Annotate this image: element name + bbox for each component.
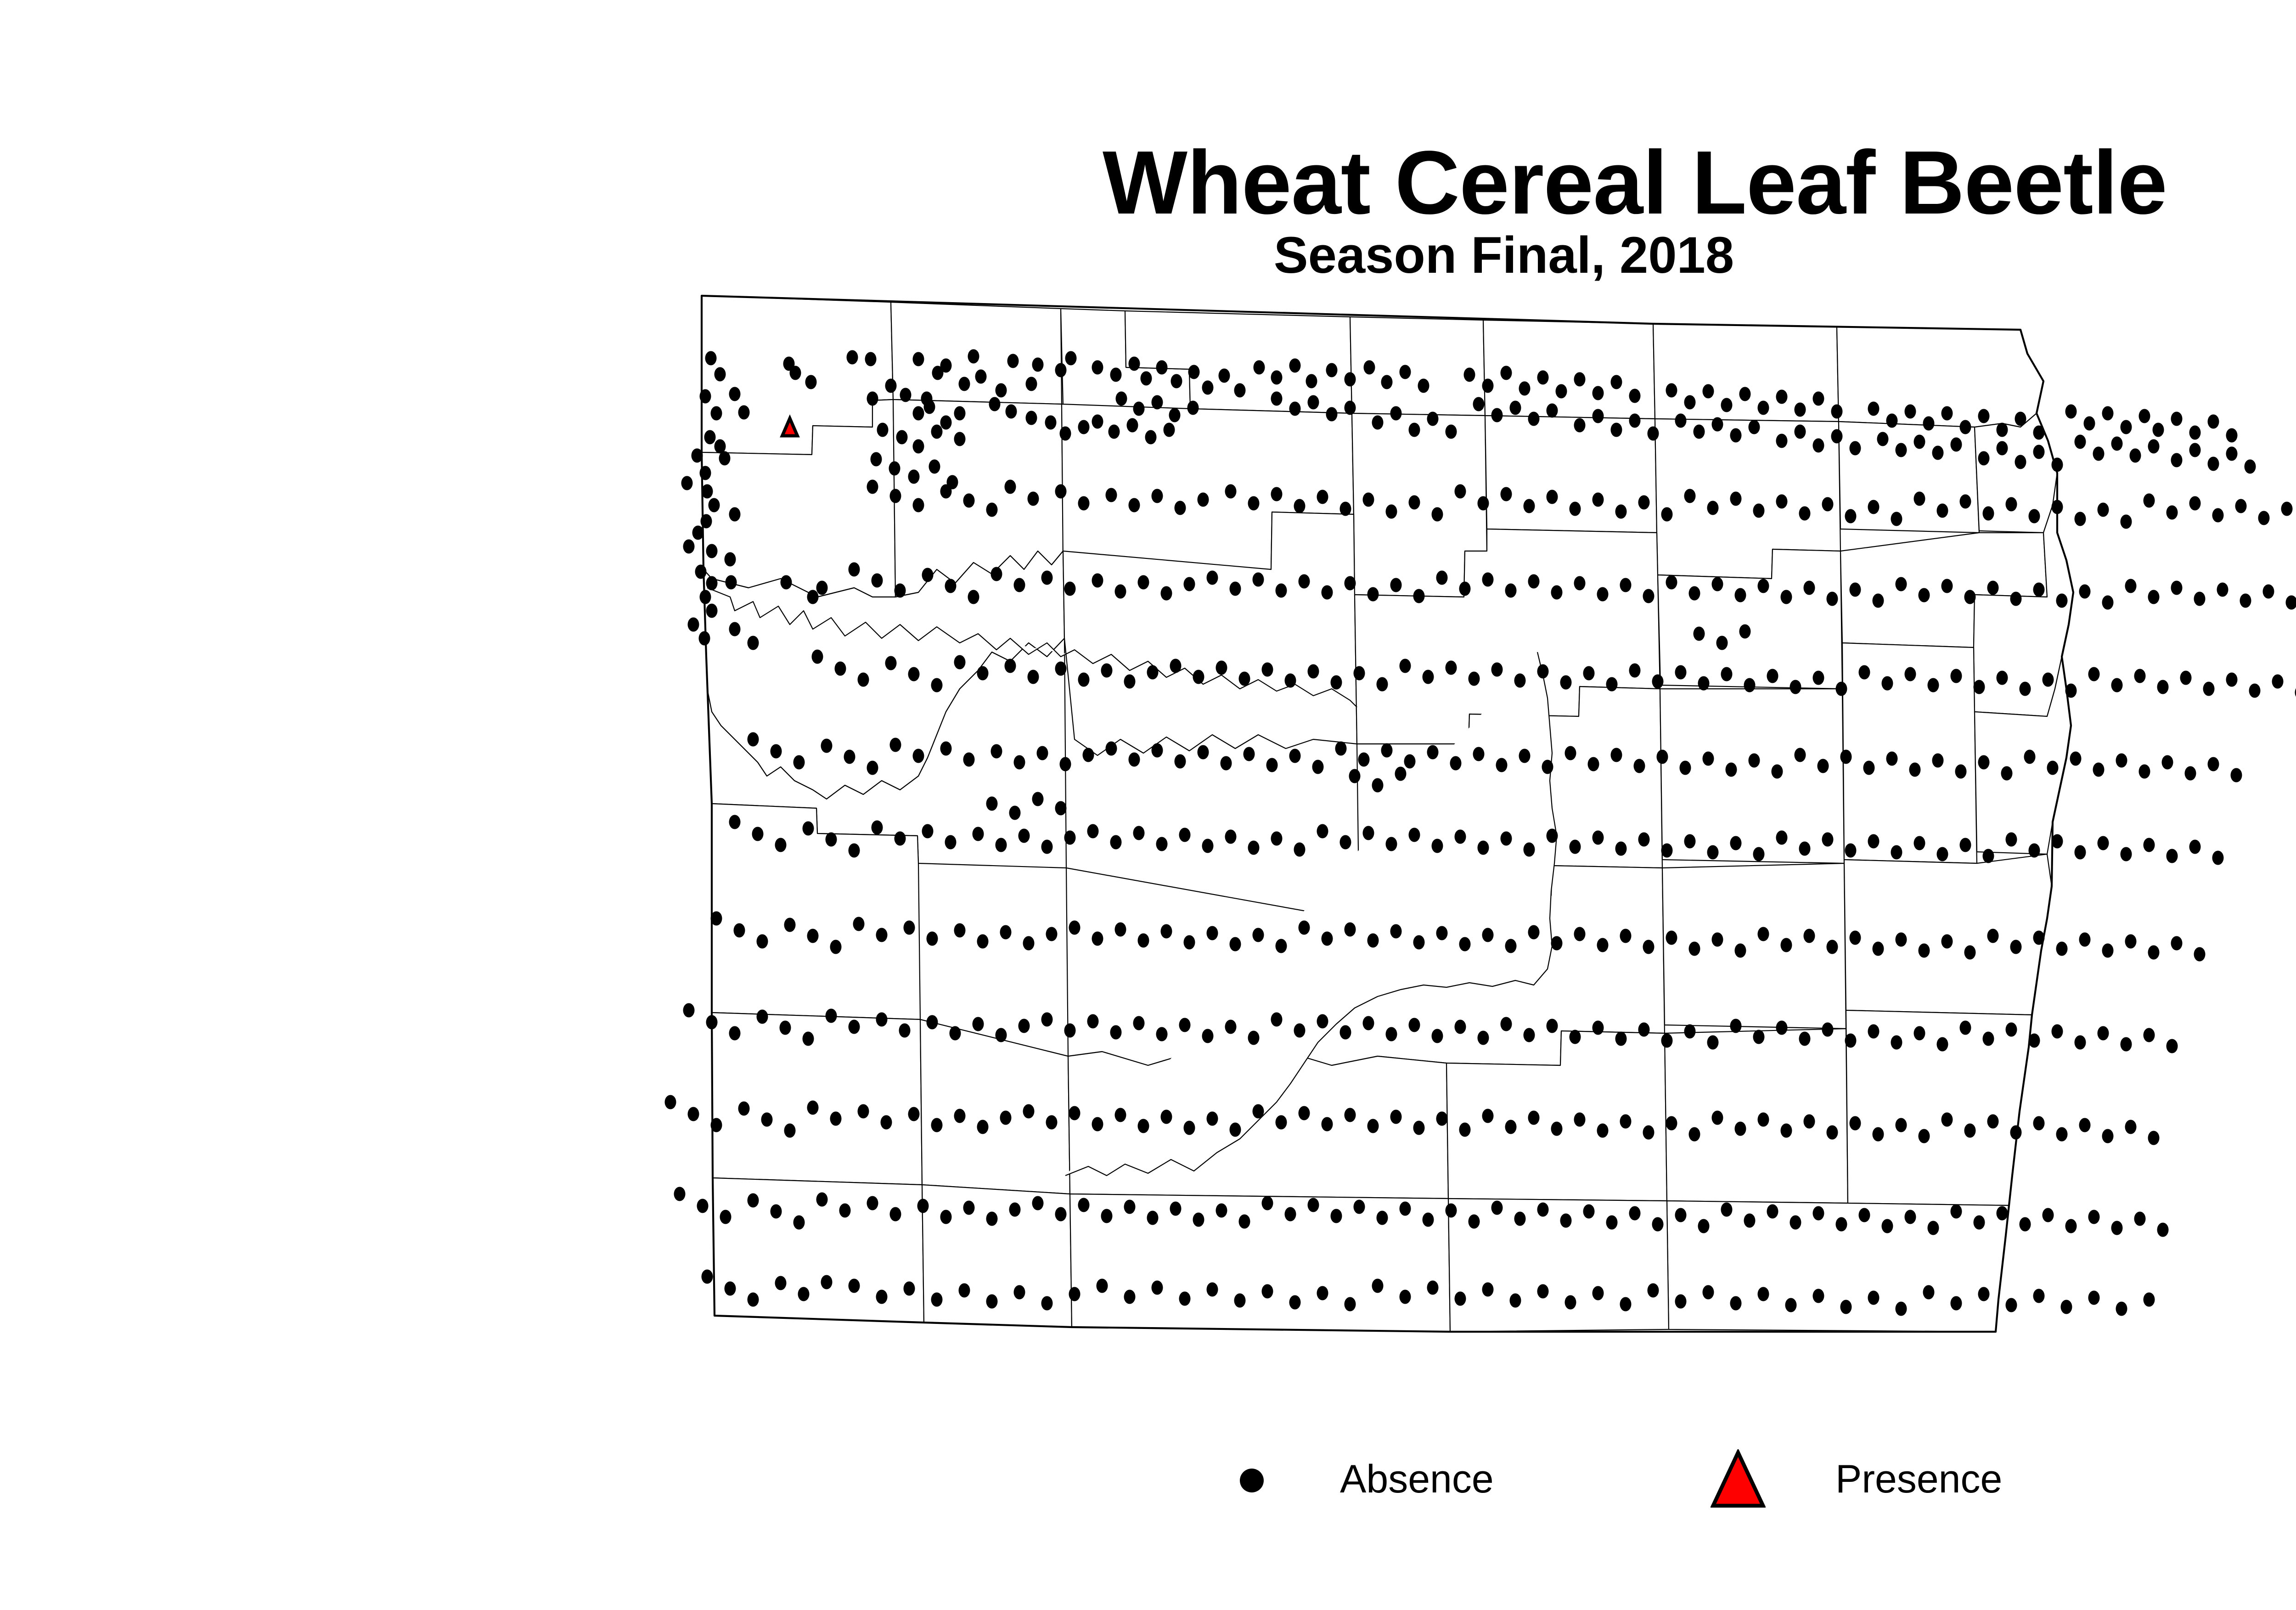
absence-point (1400, 1290, 1411, 1304)
absence-point (927, 1015, 938, 1030)
absence-point (1262, 663, 1273, 677)
absence-point (1923, 417, 1935, 431)
absence-point (1501, 366, 1512, 380)
absence-point (1019, 829, 1030, 843)
absence-point (931, 1118, 943, 1132)
absence-point (1983, 1032, 1994, 1046)
absence-point (1363, 493, 1374, 507)
absence-point (991, 567, 1002, 581)
absence-point (1547, 404, 1558, 418)
absence-point (1565, 746, 1576, 760)
absence-point (1367, 587, 1379, 602)
absence-point (1928, 678, 1939, 692)
absence-point (1537, 1203, 1549, 1217)
absence-point (1896, 1118, 1907, 1132)
absence-point (1110, 835, 1122, 850)
absence-point (1583, 1205, 1595, 1219)
absence-point (1514, 1212, 1526, 1226)
absence-point (996, 383, 1007, 398)
absence-point (1661, 1034, 1673, 1048)
absence-point (725, 552, 736, 567)
absence-point (1514, 674, 1526, 688)
absence-point (1758, 927, 1769, 941)
absence-point (1006, 405, 1017, 419)
absence-point (1312, 760, 1324, 774)
absence-point (890, 738, 901, 752)
absence-point (1941, 1113, 1953, 1127)
absence-point (2006, 497, 2017, 512)
absence-point (1161, 1110, 1172, 1124)
absence-point (1065, 351, 1077, 366)
absence-point (798, 1287, 810, 1301)
absence-point (1698, 1219, 1710, 1233)
absence-point (2208, 757, 2219, 771)
absence-point (706, 1015, 718, 1030)
absence-point (816, 1193, 828, 1207)
absence-point (1009, 1203, 1021, 1217)
absence-point (975, 370, 987, 384)
absence-point (1772, 765, 1783, 779)
absence-point (1400, 1202, 1411, 1216)
absence-point (1730, 492, 1742, 506)
absence-point (1593, 493, 1604, 507)
absence-point (2029, 1034, 2040, 1048)
absence-point (1932, 446, 1944, 460)
absence-point (1092, 1117, 1103, 1132)
absence-point (1799, 1032, 1811, 1046)
absence-point (2098, 503, 2109, 517)
absence-point (1629, 389, 1641, 403)
absence-point (927, 932, 938, 946)
absence-point (1749, 420, 1760, 434)
absence-point (1951, 1296, 1962, 1311)
absence-point (1179, 1018, 1191, 1032)
legend: Absence Presence (1194, 1442, 2066, 1534)
absence-point (2116, 754, 2127, 768)
absence-point (945, 835, 957, 850)
absence-point (1978, 755, 1990, 770)
absence-point (1785, 1298, 1797, 1312)
absence-point (2157, 1223, 2169, 1237)
absence-point (1804, 929, 1815, 943)
absence-point (1225, 484, 1237, 499)
absence-point (1381, 743, 1393, 758)
absence-point (2286, 596, 2296, 610)
absence-point (1597, 587, 1609, 602)
absence-point (2249, 684, 2261, 698)
absence-point (1069, 921, 1080, 935)
absence-point (2052, 834, 2063, 849)
absence-point (2171, 453, 2183, 467)
absence-point (1046, 927, 1058, 941)
absence-point (1501, 1017, 1512, 1031)
absence-point (704, 430, 716, 445)
absence-point (1574, 576, 1586, 591)
absence-point (771, 744, 782, 759)
absence-point (1712, 933, 1723, 947)
absence-point (2043, 673, 2054, 687)
absence-point (1372, 416, 1384, 430)
absence-point (1611, 748, 1622, 762)
absence-point (900, 388, 912, 402)
absence-point (1110, 368, 1122, 382)
absence-point (1919, 1129, 1930, 1143)
absence-point (1721, 398, 1733, 412)
absence-point (1409, 1018, 1420, 1032)
absence-point (2043, 1208, 2054, 1222)
absence-point (1758, 401, 1769, 415)
absence-point (959, 377, 970, 391)
absence-point (1326, 407, 1338, 422)
north-dakota-county-map[interactable] (597, 276, 2296, 1401)
absence-point (1413, 1121, 1425, 1135)
absence-point (1735, 588, 1746, 602)
absence-point (1400, 659, 1411, 673)
absence-point (1078, 420, 1090, 434)
absence-point (715, 367, 726, 382)
absence-point (757, 1010, 768, 1024)
absence-point (1551, 936, 1563, 951)
absence-point (1923, 1285, 1935, 1300)
absence-point (1914, 1026, 1925, 1041)
absence-point (1289, 1295, 1301, 1310)
absence-point (968, 349, 979, 364)
absence-point (706, 576, 718, 591)
absence-point (2029, 844, 2040, 858)
absence-point (1891, 1036, 1902, 1050)
absence-point (1868, 402, 1880, 416)
absence-point (1028, 492, 1039, 506)
absence-point (1064, 582, 1076, 596)
absence-point (1436, 571, 1448, 585)
absence-point (1055, 363, 1067, 377)
absence-point (1574, 1113, 1586, 1127)
absence-point (1276, 1115, 1287, 1130)
absence-point (2148, 1131, 2160, 1145)
absence-point (1620, 1297, 1632, 1312)
absence-point (1345, 923, 1356, 937)
absence-point (1358, 753, 1370, 767)
absence-point (1032, 358, 1044, 372)
absence-point (1436, 926, 1448, 940)
absence-point (1781, 938, 1792, 952)
absence-point (2125, 579, 2137, 593)
absence-point (697, 1199, 709, 1213)
absence-point (1941, 579, 1953, 593)
absence-point (2153, 423, 2164, 437)
absence-point (1905, 405, 1916, 419)
absence-point (719, 451, 731, 466)
absence-point (1987, 1115, 1999, 1129)
absence-point (858, 673, 869, 687)
absence-point (1372, 778, 1384, 793)
absence-point (1436, 1112, 1448, 1126)
absence-point (1188, 365, 1200, 379)
absence-point (2189, 426, 2201, 440)
county-golden-valley (712, 804, 920, 1019)
absence-point (757, 934, 768, 949)
absence-point (876, 1290, 888, 1304)
absence-point (2075, 845, 2086, 860)
absence-point (793, 1216, 805, 1230)
absence-point (2079, 585, 2091, 599)
absence-point (1129, 498, 1140, 512)
absence-point (1781, 590, 1792, 604)
absence-point (2102, 944, 2114, 958)
absence-point (1574, 418, 1586, 433)
absence-point (2235, 499, 2247, 513)
absence-point (1909, 763, 1921, 777)
absence-point (1390, 1110, 1402, 1124)
absence-point (1863, 761, 1875, 775)
absence-point (2033, 445, 2045, 459)
absence-point (1813, 1206, 1824, 1221)
absence-point (1804, 581, 1815, 595)
absence-point (1386, 505, 1397, 519)
absence-point (2088, 667, 2100, 681)
absence-point (1092, 574, 1103, 588)
absence-point (2167, 1039, 2178, 1053)
absence-point (1634, 759, 1645, 773)
absence-point (1064, 831, 1076, 845)
absence-point (706, 604, 718, 618)
county-slope (712, 1013, 922, 1185)
absence-point (2111, 437, 2123, 451)
absence-point (1187, 401, 1199, 415)
absence-point (1184, 935, 1195, 950)
absence-point (1680, 761, 1691, 775)
absence-point (1478, 1031, 1489, 1045)
absence-point (784, 918, 796, 932)
absence-point (2006, 1023, 2017, 1037)
absence-point (683, 1003, 695, 1018)
absence-point (1537, 1284, 1549, 1299)
absence-point (867, 1196, 878, 1210)
absence-point (954, 1109, 966, 1123)
absence-point (1390, 406, 1402, 421)
absence-point (1941, 934, 1953, 949)
absence-point (1234, 383, 1246, 398)
absence-point (1198, 493, 1209, 507)
absence-point (1019, 1019, 1030, 1033)
absence-point (1473, 747, 1485, 761)
absence-point (1547, 490, 1558, 504)
absence-point (908, 667, 920, 681)
county-hettinger (920, 1019, 1070, 1194)
absence-point (1528, 574, 1540, 589)
absence-point (1335, 742, 1347, 756)
absence-point (1716, 636, 1728, 650)
absence-point (1840, 1300, 1852, 1314)
absence-point (1395, 767, 1407, 781)
absence-point (2189, 840, 2201, 854)
absence-point (1294, 843, 1306, 857)
absence-point (1207, 1112, 1218, 1126)
absence-point (1446, 1204, 1457, 1218)
absence-point (904, 1282, 915, 1296)
absence-point (1547, 829, 1558, 843)
absence-point (821, 739, 833, 753)
absence-point (1978, 451, 1990, 466)
absence-point (700, 466, 711, 480)
absence-point (2139, 765, 2150, 779)
absence-point (1886, 752, 1898, 766)
absence-point (1469, 672, 1480, 686)
absence-point (1007, 354, 1019, 368)
absence-point (1248, 841, 1260, 855)
absence-point (1161, 586, 1172, 601)
absence-point (2098, 836, 2109, 850)
absence-point (1097, 1279, 1108, 1293)
absence-point (1960, 495, 1971, 509)
absence-point (1455, 830, 1466, 844)
absence-point (1271, 392, 1283, 406)
absence-point (1078, 496, 1090, 511)
absence-point (1345, 401, 1356, 415)
absence-point (1859, 665, 1870, 680)
absence-point (1629, 664, 1641, 678)
absence-point (1661, 844, 1673, 858)
absence-point (2024, 750, 2036, 764)
absence-point (1427, 745, 1439, 760)
absence-point (1482, 573, 1494, 587)
absence-point (2020, 682, 2031, 696)
absence-point (1005, 480, 1016, 494)
absence-point (2075, 435, 2086, 449)
absence-point (973, 1017, 984, 1031)
absence-point (1377, 677, 1388, 692)
absence-point (1491, 1201, 1503, 1215)
absence-point (1570, 840, 1581, 854)
absence-point (1850, 931, 1861, 945)
absence-point (1703, 752, 1714, 766)
absence-point (876, 928, 888, 942)
absence-point (929, 460, 940, 474)
absence-point (1758, 579, 1769, 593)
absence-point (1115, 923, 1126, 937)
absence-point (1501, 487, 1512, 501)
absence-point (1675, 665, 1687, 680)
absence-point (1069, 1106, 1080, 1120)
absence-point (1014, 755, 1025, 770)
absence-point (1524, 843, 1535, 857)
absence-point (1896, 933, 1907, 947)
absence-point (1345, 1108, 1356, 1122)
absence-point (2171, 936, 2183, 951)
absence-point (1400, 365, 1411, 379)
absence-point (2052, 458, 2063, 472)
absence-point (1115, 1108, 1126, 1122)
absence-point (2226, 447, 2238, 461)
absence-point (940, 742, 952, 756)
absence-point (775, 1276, 787, 1290)
absence-point (1045, 416, 1057, 430)
absence-point (2194, 592, 2206, 606)
absence-point (986, 797, 998, 811)
absence-point (1478, 841, 1489, 855)
absence-point (1482, 379, 1494, 393)
absence-point (1156, 360, 1168, 375)
absence-point (1850, 583, 1861, 597)
absence-point (1726, 763, 1737, 777)
absence-point (977, 934, 989, 949)
absence-point (1964, 946, 1976, 960)
absence-point (711, 406, 722, 421)
absence-point (784, 1124, 796, 1138)
absence-point (931, 1293, 943, 1307)
absence-point (1055, 801, 1067, 816)
absence-point (1882, 676, 1893, 691)
absence-point (1198, 745, 1209, 760)
absence-point (1432, 839, 1443, 853)
absence-point (2088, 1291, 2100, 1305)
absence-point (1127, 418, 1138, 433)
absence-point (1537, 664, 1549, 679)
absence-point (1739, 625, 1751, 639)
absence-point (1254, 360, 1265, 375)
absence-point (1248, 496, 1260, 511)
absence-point (700, 590, 711, 604)
absence-point (1937, 504, 1948, 518)
absence-point (1537, 371, 1549, 385)
absence-point (849, 1279, 860, 1293)
absence-point (1262, 1196, 1273, 1210)
absence-point (1753, 1030, 1765, 1044)
absence-point (1882, 1219, 1893, 1233)
absence-point (1749, 754, 1760, 768)
absence-point (1289, 359, 1301, 373)
absence-point (709, 498, 720, 512)
absence-point (1666, 1116, 1677, 1131)
absence-point (807, 590, 819, 604)
absence-point (1758, 1113, 1769, 1127)
absence-point (1519, 749, 1531, 763)
absence-point (1028, 670, 1039, 684)
absence-point (1464, 368, 1475, 382)
absence-point (748, 636, 759, 650)
absence-point (2217, 583, 2228, 597)
absence-point (2079, 933, 2091, 947)
absence-point (1308, 664, 1319, 679)
absence-point (1638, 833, 1650, 847)
absence-point (977, 1120, 989, 1134)
absence-point (738, 1102, 750, 1116)
absence-point (1032, 792, 1044, 806)
county-layer (702, 296, 2073, 1332)
absence-point (889, 462, 900, 476)
absence-point (1987, 929, 1999, 943)
absence-point (1230, 1123, 1241, 1137)
absence-point (2144, 1028, 2155, 1042)
absence-point (1790, 1216, 1801, 1230)
absence-point (1169, 408, 1181, 422)
legend-presence-label: Presence (1835, 1459, 2002, 1499)
absence-point (1207, 926, 1218, 940)
absence-point (1482, 1109, 1494, 1123)
absence-point (2010, 1126, 2022, 1140)
absence-point (1193, 1213, 1204, 1227)
absence-point (1974, 680, 1985, 694)
absence-point (1689, 586, 1700, 601)
absence-point (1795, 425, 1806, 439)
absence-point (830, 940, 842, 954)
absence-point (1322, 932, 1333, 946)
absence-point (867, 480, 878, 494)
absence-point (1896, 443, 1907, 457)
absence-point (706, 544, 718, 558)
absence-point (2020, 1217, 2031, 1232)
absence-point (781, 575, 792, 590)
